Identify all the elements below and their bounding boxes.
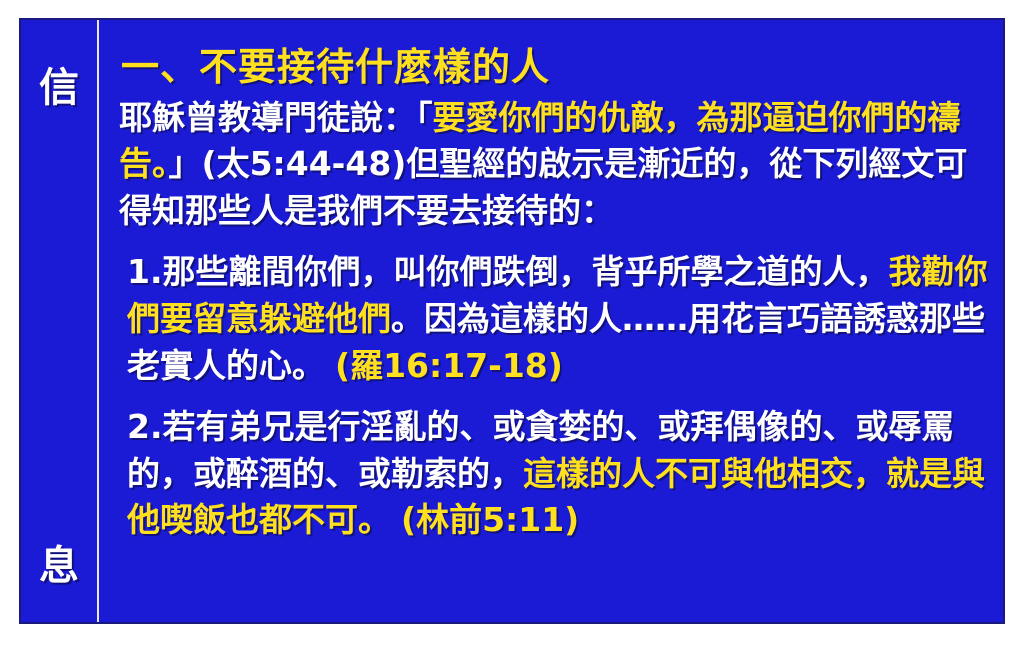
page-title: 一、不要接待什麼樣的人 (121, 46, 991, 89)
list-item-number: 2. (127, 407, 163, 446)
slide-content: 一、不要接待什麼樣的人 耶穌曾教導門徒說：「要愛你們的仇敵，為那逼迫你們的禱告。… (99, 20, 1003, 622)
scripture-reference: (羅16:17-18) (335, 346, 563, 385)
list-item: 1.那些離間你們，叫你們跌倒，背乎所學之道的人，我勸你們要留意躲避他們。因為這樣… (127, 249, 991, 390)
list-item-segment: 那些離間你們，叫你們跌倒，背乎所學之道的人， (163, 252, 889, 291)
intro-part-1: 耶穌曾教導門徒說：「 (119, 98, 433, 137)
list-item-body: 2.若有弟兄是行淫亂的、或貪婪的、或拜偶像的、或辱罵的，或醉酒的、或勒索的，這樣… (127, 404, 991, 545)
intro-paragraph: 耶穌曾教導門徒說：「要愛你們的仇敵，為那逼迫你們的禱告。」(太5:44-48)但… (119, 95, 991, 236)
list-item: 2.若有弟兄是行淫亂的、或貪婪的、或拜偶像的、或辱罵的，或醉酒的、或勒索的，這樣… (127, 404, 991, 545)
list-item-number: 1. (127, 252, 163, 291)
scripture-list: 1.那些離間你們，叫你們跌倒，背乎所學之道的人，我勸你們要留意躲避他們。因為這樣… (117, 249, 991, 544)
list-item-body: 1.那些離間你們，叫你們跌倒，背乎所學之道的人，我勸你們要留意躲避他們。因為這樣… (127, 249, 991, 390)
sidebar-char-bottom: 息 (39, 546, 79, 586)
sidebar-vertical-label: 信 息 (21, 20, 99, 622)
intro-part-3: 」(太5:44-48)但聖經的啟示是漸近的，從下列經文可得知那些人是我們不要去接… (119, 144, 967, 230)
slide-panel: 信 息 一、不要接待什麼樣的人 耶穌曾教導門徒說：「要愛你們的仇敵，為那逼迫你們… (19, 18, 1005, 624)
sidebar-char-top: 信 (39, 68, 79, 108)
slide-canvas: 信 息 一、不要接待什麼樣的人 耶穌曾教導門徒說：「要愛你們的仇敵，為那逼迫你們… (0, 0, 1024, 650)
scripture-reference: (林前5:11) (401, 500, 579, 539)
